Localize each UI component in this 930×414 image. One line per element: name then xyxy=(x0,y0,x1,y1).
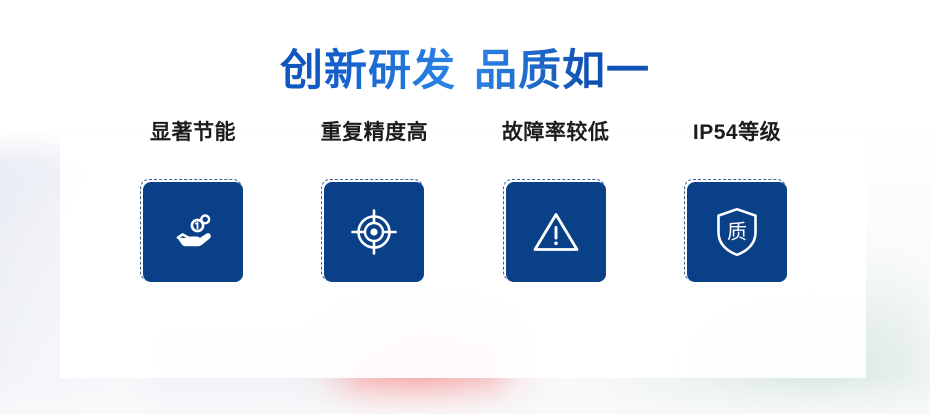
feature-icon-wrap xyxy=(506,182,606,282)
feature-icon-wrap: 质 xyxy=(687,182,787,282)
feature-label: IP54等级 xyxy=(693,118,781,148)
feature-item-energy-saving[interactable]: 显著节能 xyxy=(110,118,276,282)
page-title: 创新研发品质如一 xyxy=(0,44,930,98)
icon-tile[interactable] xyxy=(143,182,243,282)
hand-holding-coins-icon xyxy=(167,206,219,258)
icon-tile[interactable]: 质 xyxy=(687,182,787,282)
feature-item-low-failure-rate[interactable]: 故障率较低 xyxy=(473,118,639,282)
feature-list: 显著节能 重复精度高 xyxy=(110,118,820,282)
icon-tile[interactable] xyxy=(324,182,424,282)
svg-text:质: 质 xyxy=(727,221,747,244)
feature-label: 显著节能 xyxy=(150,118,236,148)
promo-banner: 创新研发品质如一 显著节能 xyxy=(0,0,930,414)
feature-label: 重复精度高 xyxy=(321,118,429,148)
crosshair-target-icon xyxy=(349,207,399,257)
page-title-part-2: 品质如一 xyxy=(474,47,650,95)
feature-item-ip54-rating[interactable]: IP54等级 质 xyxy=(654,118,820,282)
page-title-part-1: 创新研发 xyxy=(280,47,456,95)
feature-item-repeat-accuracy[interactable]: 重复精度高 xyxy=(291,118,457,282)
warning-triangle-icon xyxy=(531,209,581,255)
feature-label: 故障率较低 xyxy=(502,118,610,148)
feature-icon-wrap xyxy=(143,182,243,282)
shield-quality-icon: 质 xyxy=(714,206,760,258)
icon-tile[interactable] xyxy=(506,182,606,282)
feature-icon-wrap xyxy=(324,182,424,282)
